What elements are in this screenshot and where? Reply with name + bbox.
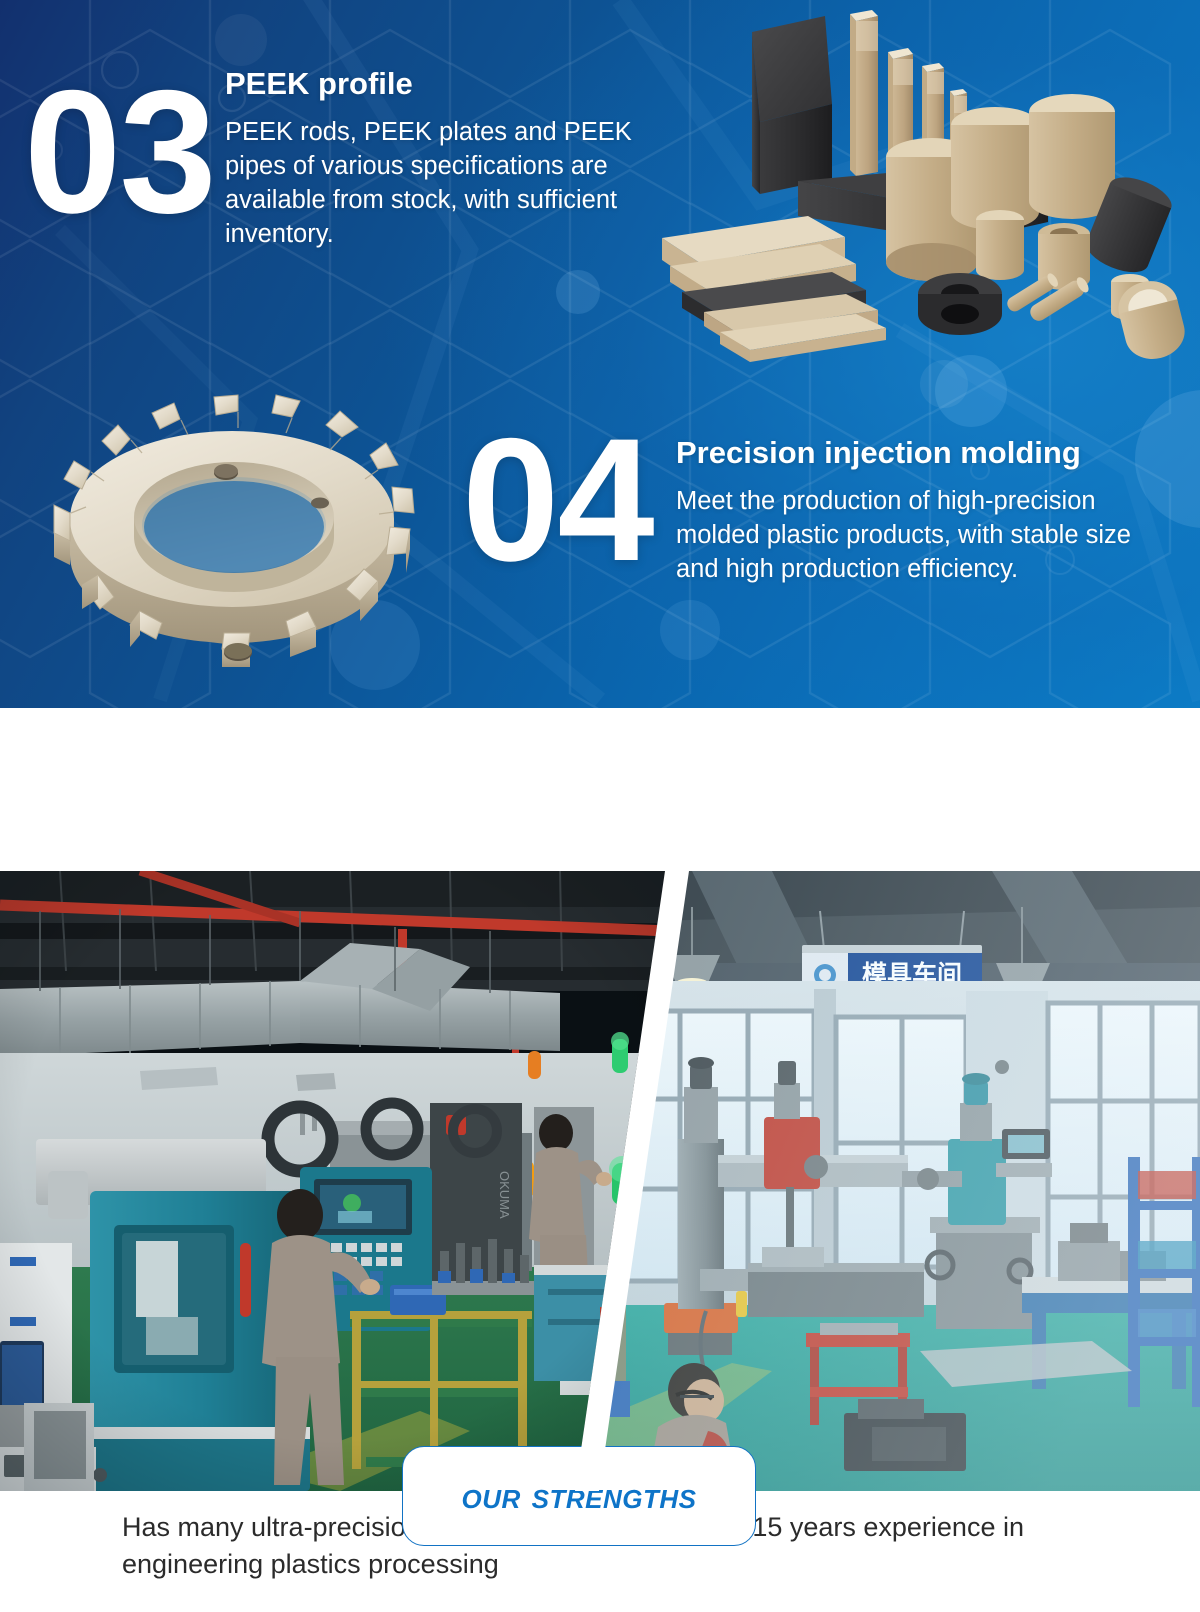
hero-section: 03 PEEK profile PEEK rods, PEEK plates a… [0, 0, 1200, 708]
feature-block-03: PEEK profile PEEK rods, PEEK plates and … [225, 66, 655, 251]
cnc-machining-workshop-photo: OKUMA [0, 871, 670, 1491]
feature-block-04: Precision injection molding Meet the pro… [676, 435, 1156, 586]
peek-profiles-image [660, 0, 1200, 359]
feature-number-03: 03 [24, 72, 215, 233]
workshop-photo-strip: OKUMA [0, 871, 1200, 1491]
feature-title-03: PEEK profile [225, 66, 655, 102]
strengths-banner-section: Our strengths [0, 708, 1200, 871]
strengths-label-pill: Our strengths [402, 1446, 756, 1546]
feature-description-03: PEEK rods, PEEK plates and PEEK pipes of… [225, 115, 655, 252]
feature-number-04: 04 [462, 420, 653, 581]
peek-gear-ring-image [30, 385, 430, 680]
feature-title-04: Precision injection molding [676, 435, 1156, 471]
feature-description-04: Meet the production of high-precision mo… [676, 484, 1156, 586]
